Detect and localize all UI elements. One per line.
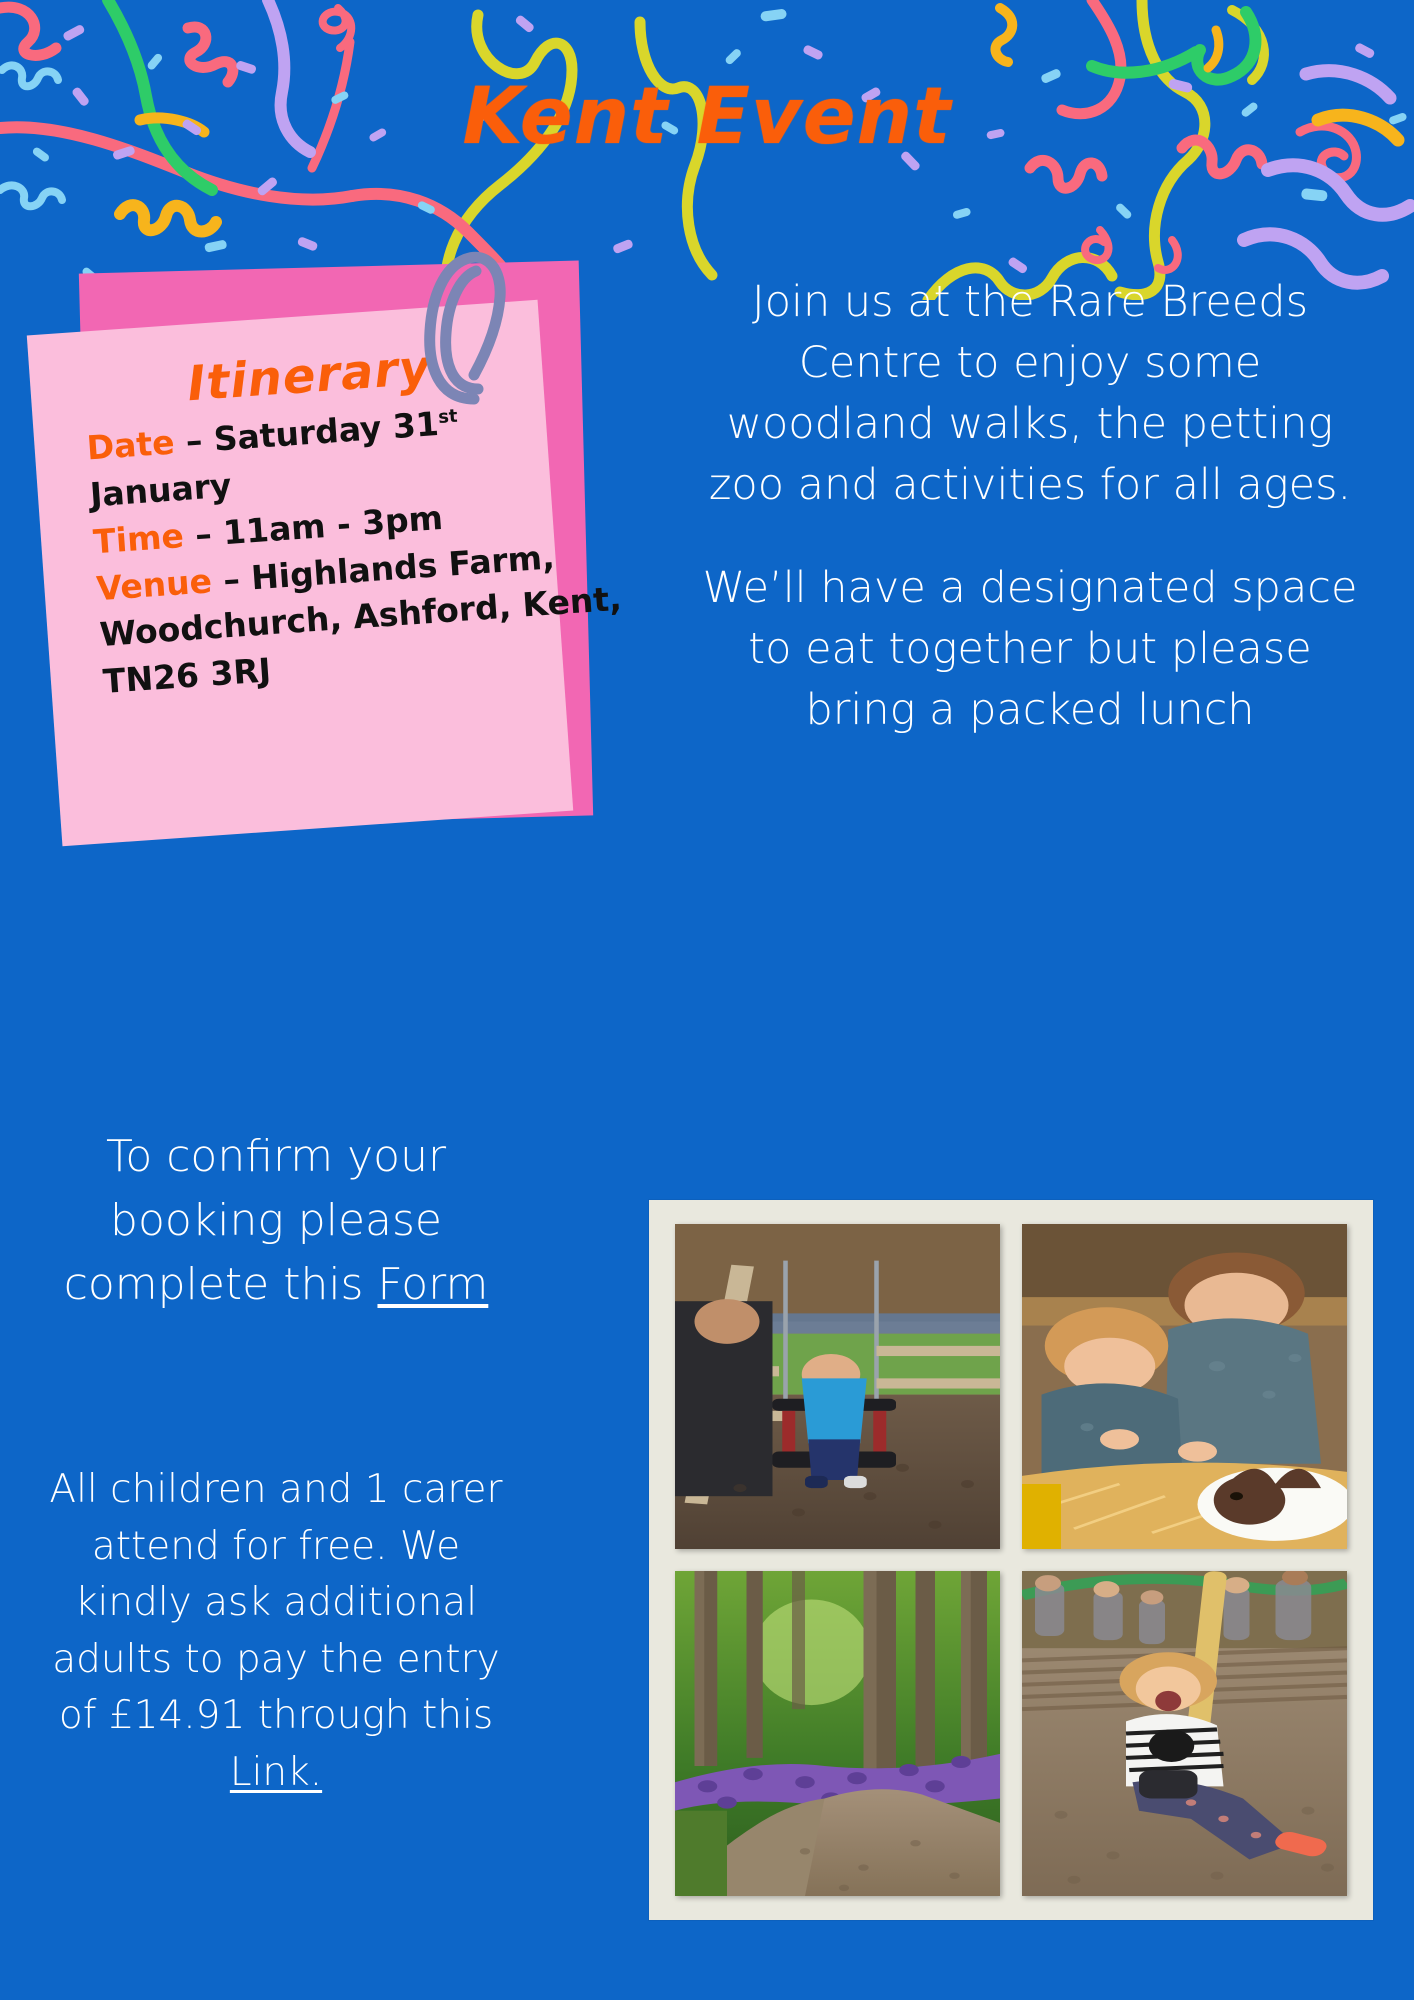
pricing-payment-link[interactable]: Link. — [230, 1750, 322, 1795]
paperclip-icon — [416, 249, 506, 409]
itinerary-dash-2: – — [194, 514, 213, 554]
page-title: Kent Event — [0, 72, 1414, 162]
itinerary-venue-label: Venue — [95, 561, 213, 608]
photo-child-on-swing — [675, 1224, 1000, 1549]
intro-paragraph-1: Join us at the Rare Breeds Centre to enj… — [700, 272, 1360, 516]
itinerary-dash-3: – — [222, 559, 241, 599]
itinerary-time-label: Time — [92, 516, 185, 561]
photo-children-petting-rabbit — [1022, 1224, 1347, 1549]
pricing-copy: All children and 1 carer attend for free… — [36, 1462, 516, 1801]
booking-copy: To confirm your booking please complete … — [36, 1125, 516, 1316]
intro-paragraph-2: We’ll have a designated space to eat tog… — [700, 558, 1360, 741]
itinerary-date-ordinal: st — [437, 406, 458, 428]
pricing-text: All children and 1 carer attend for free… — [49, 1467, 502, 1738]
photo-bluebell-woodland-path — [675, 1571, 1000, 1896]
itinerary-date-label: Date — [85, 422, 175, 467]
intro-copy: Join us at the Rare Breeds Centre to enj… — [700, 272, 1360, 741]
itinerary-card: Itinerary Date – Saturday 31st January T… — [28, 255, 628, 845]
photo-collage — [649, 1200, 1373, 1920]
booking-form-link[interactable]: Form — [377, 1259, 488, 1310]
photo-girl-on-zipwire — [1022, 1571, 1347, 1896]
itinerary-dash-1: – — [184, 421, 203, 461]
